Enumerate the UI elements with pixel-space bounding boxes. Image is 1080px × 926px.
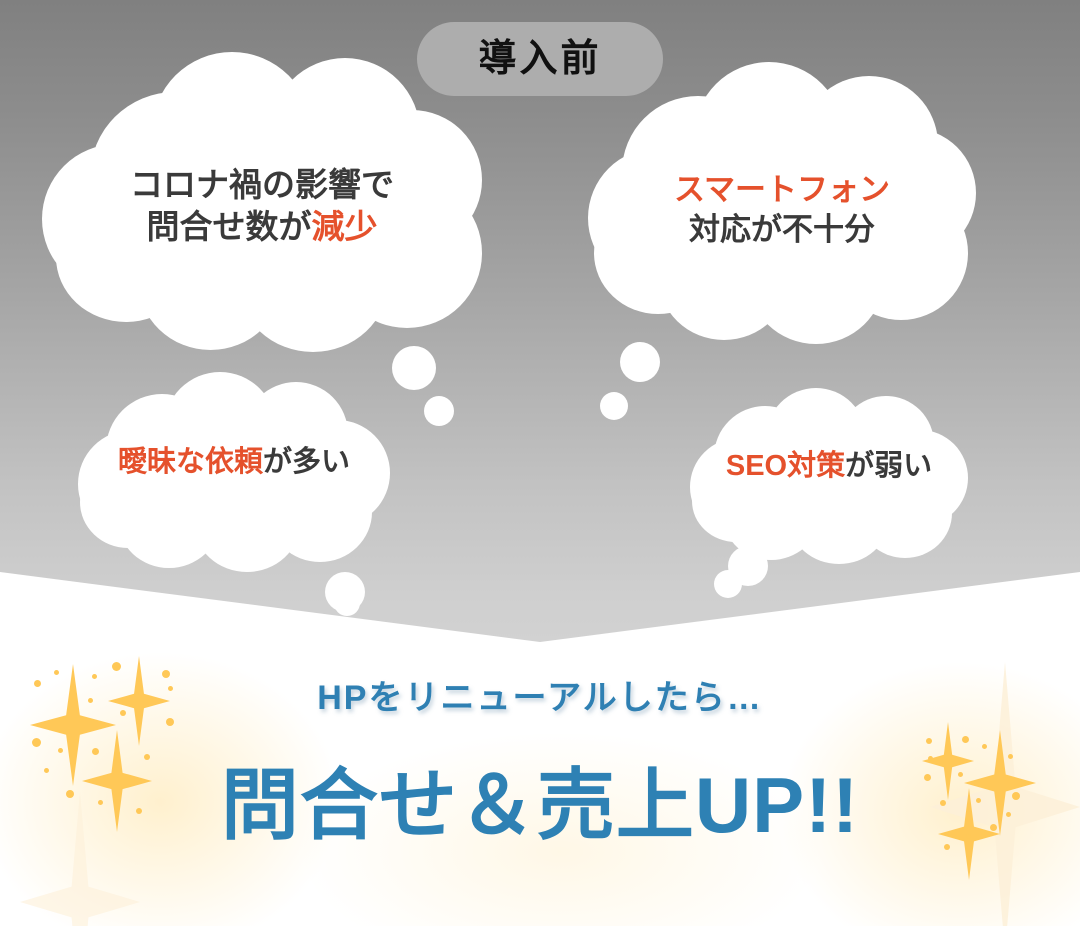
thought-bubble-line-2-highlight: 減少 — [312, 208, 378, 245]
sparkle-dot — [928, 756, 933, 761]
thought-tail-icon — [600, 392, 628, 420]
thought-tail-icon — [620, 342, 660, 382]
sub-headline: HPをリニューアルしたら… — [0, 670, 1080, 719]
sparkle-dot — [58, 748, 63, 753]
promo-banner: 導入前 コロナ禍の影響で 問合せ数が減少 スマート — [0, 0, 1080, 926]
sparkle-dot — [32, 738, 41, 747]
thought-bubble-text: 曖昧な依頼が多い — [78, 444, 390, 481]
thought-bubble-highlight: 曖昧な依頼 — [118, 446, 263, 478]
thought-bubble-plain: が弱い — [845, 450, 932, 482]
thought-tail-icon — [714, 570, 742, 598]
thought-bubble-line-2: 問合せ数が減少 — [42, 206, 482, 248]
sparkle-dot — [144, 754, 150, 760]
sparkle-dot — [166, 718, 174, 726]
thought-bubble-text: SEO対策が弱い — [690, 448, 968, 485]
thought-bubble-text: コロナ禍の影響で 問合せ数が減少 — [42, 164, 482, 248]
sparkle-dot — [982, 744, 987, 749]
thought-bubble-smartphone-support: スマートフォン 対応が不十分 — [588, 62, 976, 344]
sparkle-dot — [92, 748, 99, 755]
thought-bubble-weak-seo: SEO対策が弱い — [690, 388, 968, 564]
thought-bubble-line-1: コロナ禍の影響で — [42, 164, 482, 206]
thought-bubble-text: スマートフォン 対応が不十分 — [588, 170, 976, 249]
thought-tail-icon — [392, 346, 436, 390]
thought-tail-icon — [424, 396, 454, 426]
thought-bubble-vague-requests: 曖昧な依頼が多い — [78, 372, 390, 572]
after-section: HPをリニューアルしたら… 問合せ＆売上UP!! — [0, 642, 1080, 926]
sparkle-dot — [962, 736, 969, 743]
sparkle-dot — [1008, 754, 1013, 759]
thought-bubble-declining-inquiries: コロナ禍の影響で 問合せ数が減少 — [42, 52, 482, 352]
thought-tail-icon — [334, 590, 360, 616]
sparkle-dot — [926, 738, 932, 744]
before-badge: 導入前 — [417, 22, 663, 96]
thought-bubble-line-2-plain: 問合せ数が — [147, 208, 312, 245]
before-badge-label: 導入前 — [478, 40, 601, 78]
thought-bubble-line-1: スマートフォン — [588, 170, 976, 210]
thought-bubble-highlight: SEO対策 — [726, 450, 845, 482]
main-headline: 問合せ＆売上UP!! — [0, 766, 1080, 844]
thought-bubble-line-2: 対応が不十分 — [588, 210, 976, 250]
sparkle-dot — [944, 844, 950, 850]
thought-bubble-plain: が多い — [263, 446, 350, 478]
